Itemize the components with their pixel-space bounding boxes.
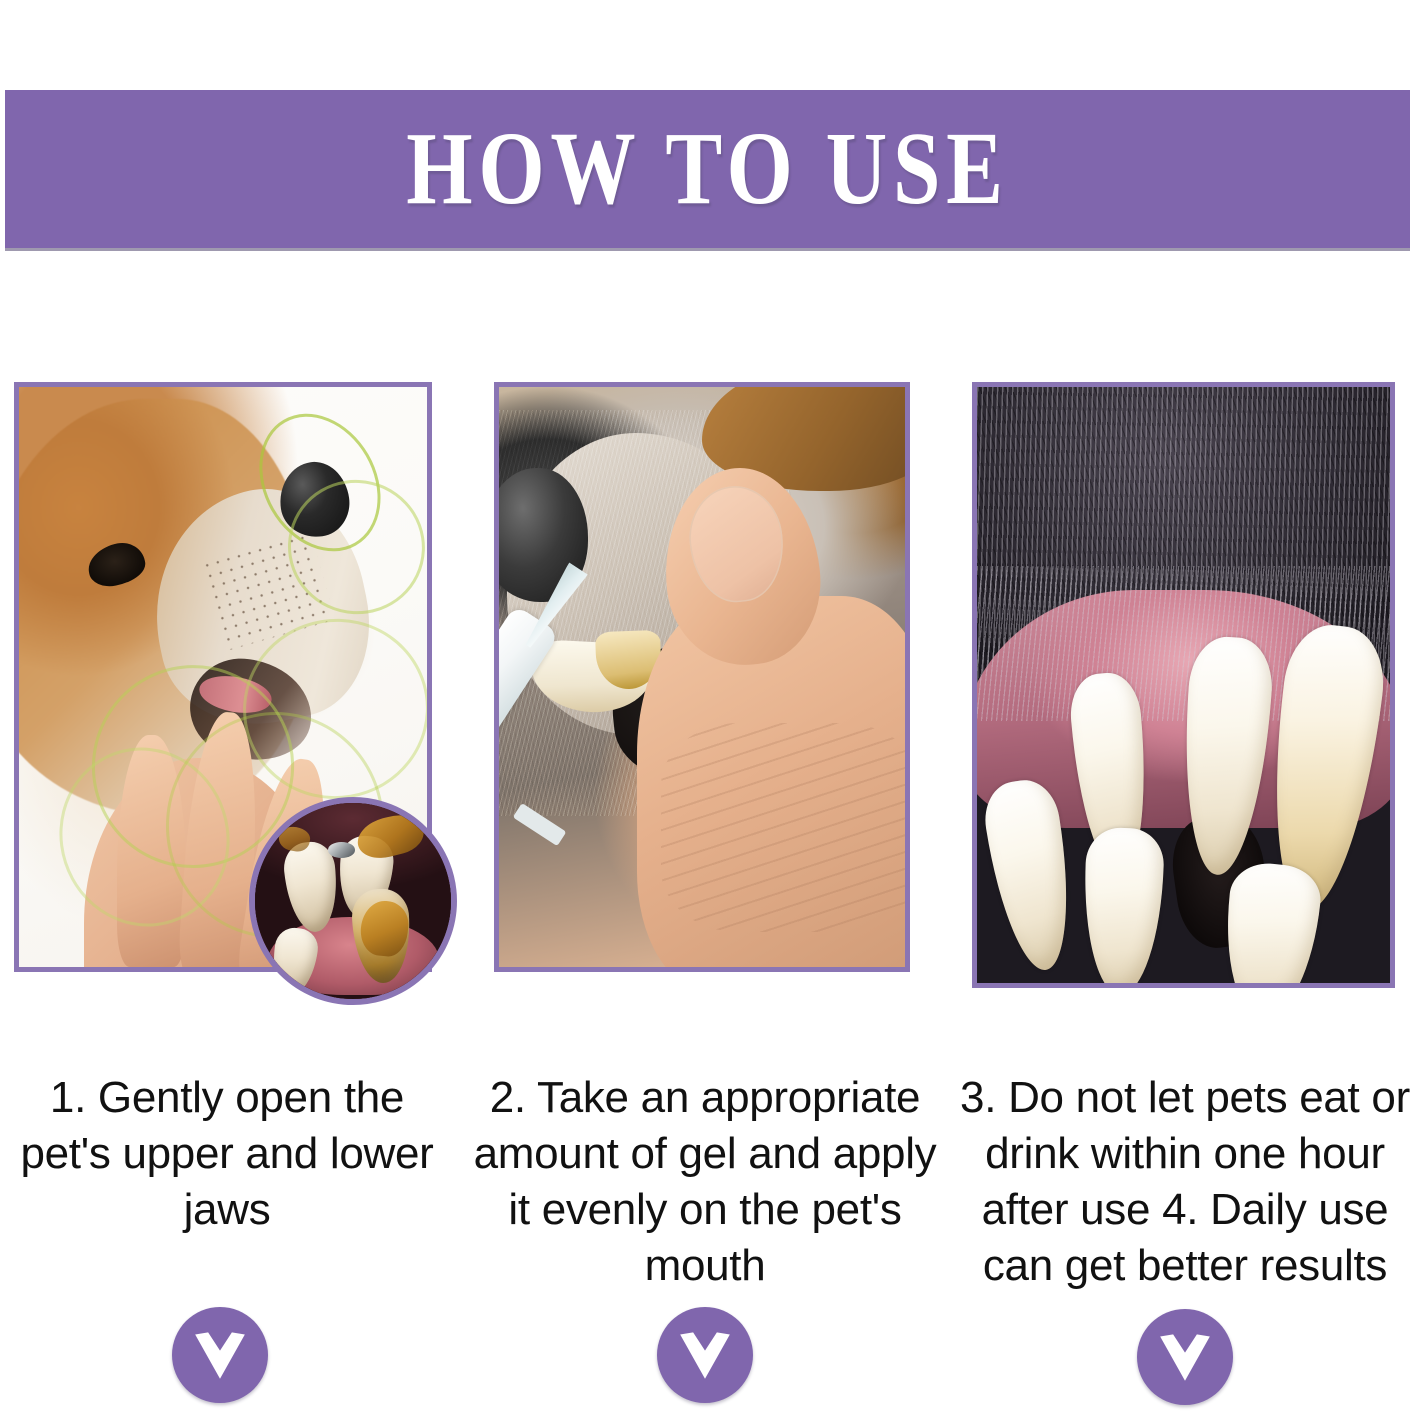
page-title: HOW TO USE (131, 117, 1283, 221)
step-2-image-panel (494, 382, 910, 972)
step-2-chevron-badge (657, 1307, 753, 1403)
palm-creases (661, 723, 905, 932)
step-3-chevron-badge (1137, 1309, 1233, 1405)
tartar-closeup-inset (249, 797, 457, 1005)
chevron-down-icon (678, 1327, 732, 1381)
step-3-caption: 3. Do not let pets eat or drink within o… (960, 1070, 1410, 1294)
steps-panel-row (0, 382, 1415, 1002)
step-1-caption: 1. Gently open the pet's upper and lower… (18, 1070, 436, 1238)
step-1-chevron-badge (172, 1307, 268, 1403)
apply-gel-with-pen-photo (499, 387, 905, 967)
chevron-down-icon (1158, 1329, 1212, 1383)
chevron-down-icon (193, 1327, 247, 1381)
dental-highlight (328, 842, 355, 858)
step-3-image-panel (972, 382, 1395, 988)
clean-white-teeth-photo (977, 387, 1390, 983)
header-banner: HOW TO USE (5, 90, 1410, 248)
step-2-caption: 2. Take an appropriate amount of gel and… (470, 1070, 940, 1294)
